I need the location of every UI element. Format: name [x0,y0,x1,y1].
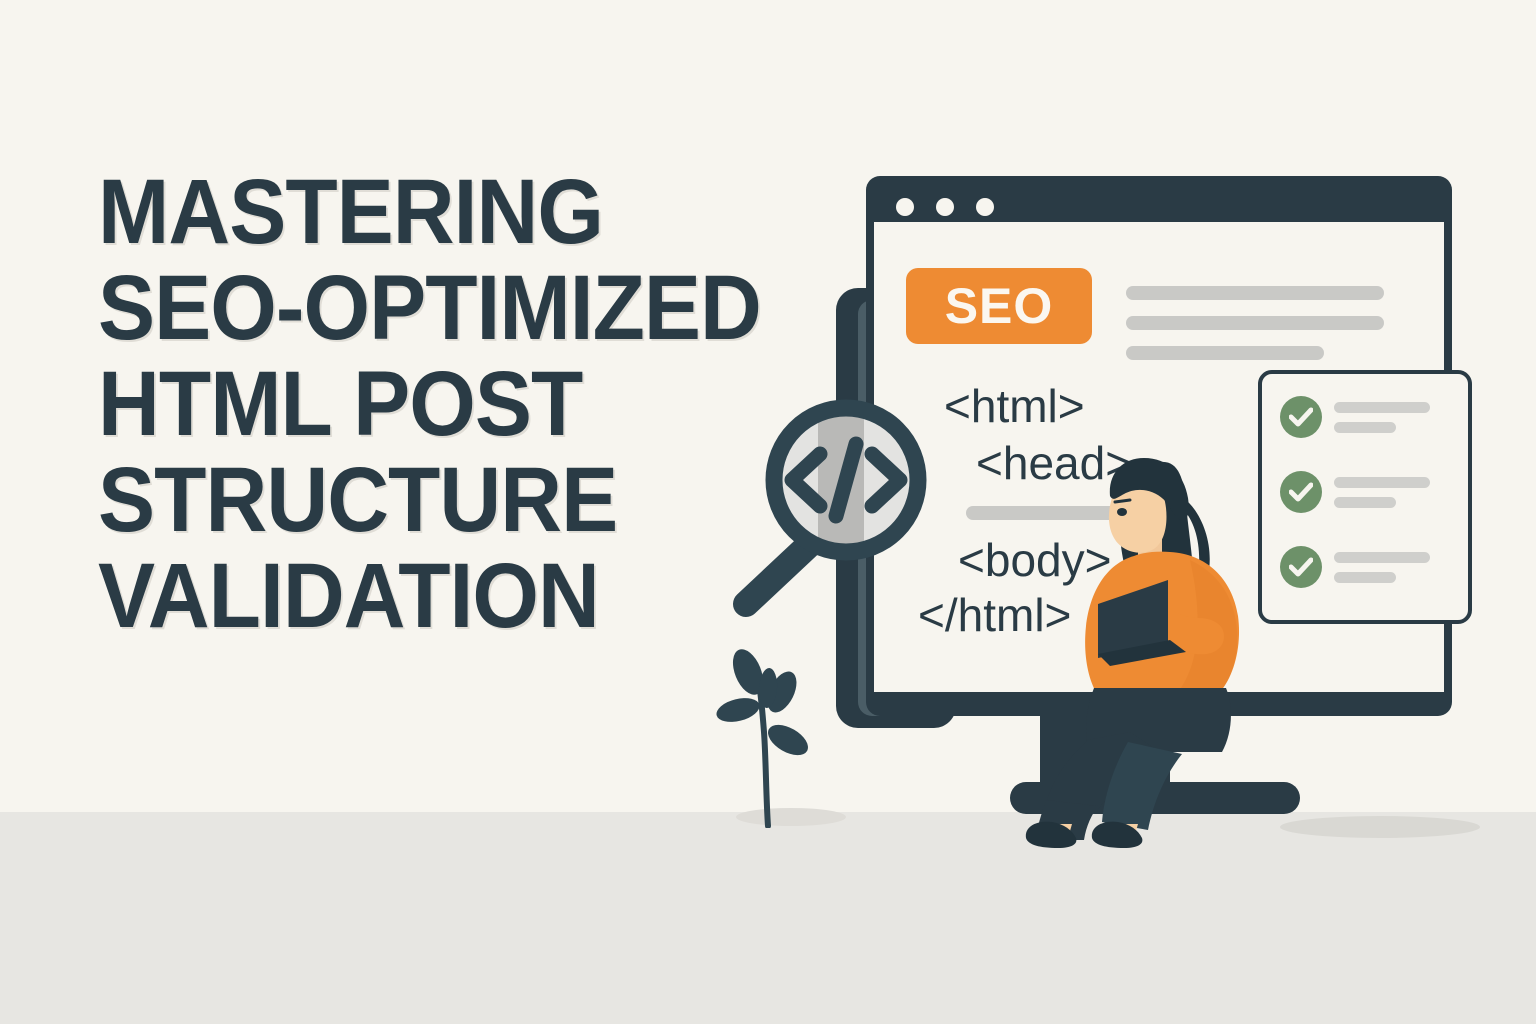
window-dot-maximize-icon[interactable] [976,198,994,216]
checklist-line-long [1334,477,1430,488]
checklist-line-long [1334,402,1430,413]
checklist-line-short [1334,422,1396,433]
checklist-line-long [1334,552,1430,563]
hero-illustration: MASTERING SEO-OPTIMIZED HTML POST STRUCT… [0,0,1536,1024]
browser-window-controls[interactable] [896,198,994,216]
headline-line-5: VALIDATION [98,548,805,644]
checklist-item-lines [1334,477,1430,508]
seo-badge[interactable]: SEO [906,268,1092,344]
person-illustration [1010,440,1340,850]
skeleton-bar-1 [1126,286,1384,300]
checklist-item-lines [1334,552,1430,583]
window-dot-minimize-icon[interactable] [936,198,954,216]
checklist-item-lines [1334,402,1430,433]
headline-line-1: MASTERING [98,164,805,260]
checklist-line-short [1334,572,1396,583]
window-dot-close-icon[interactable] [896,198,914,216]
page-title: MASTERING SEO-OPTIMIZED HTML POST STRUCT… [98,164,805,644]
headline-line-4: STRUCTURE [98,452,805,548]
skeleton-bar-2 [1126,316,1384,330]
skeleton-bar-3 [1126,346,1324,360]
checklist-item[interactable] [1280,396,1430,438]
code-line-html-open: <html> [944,383,1085,429]
plant-decoration [716,648,836,828]
headline-line-2: SEO-OPTIMIZED [98,260,805,356]
check-circle-icon [1280,396,1322,438]
headline-line-3: HTML POST [98,356,805,452]
seo-badge-label: SEO [945,277,1054,335]
checklist-line-short [1334,497,1396,508]
magnifier-icon[interactable] [722,352,962,622]
